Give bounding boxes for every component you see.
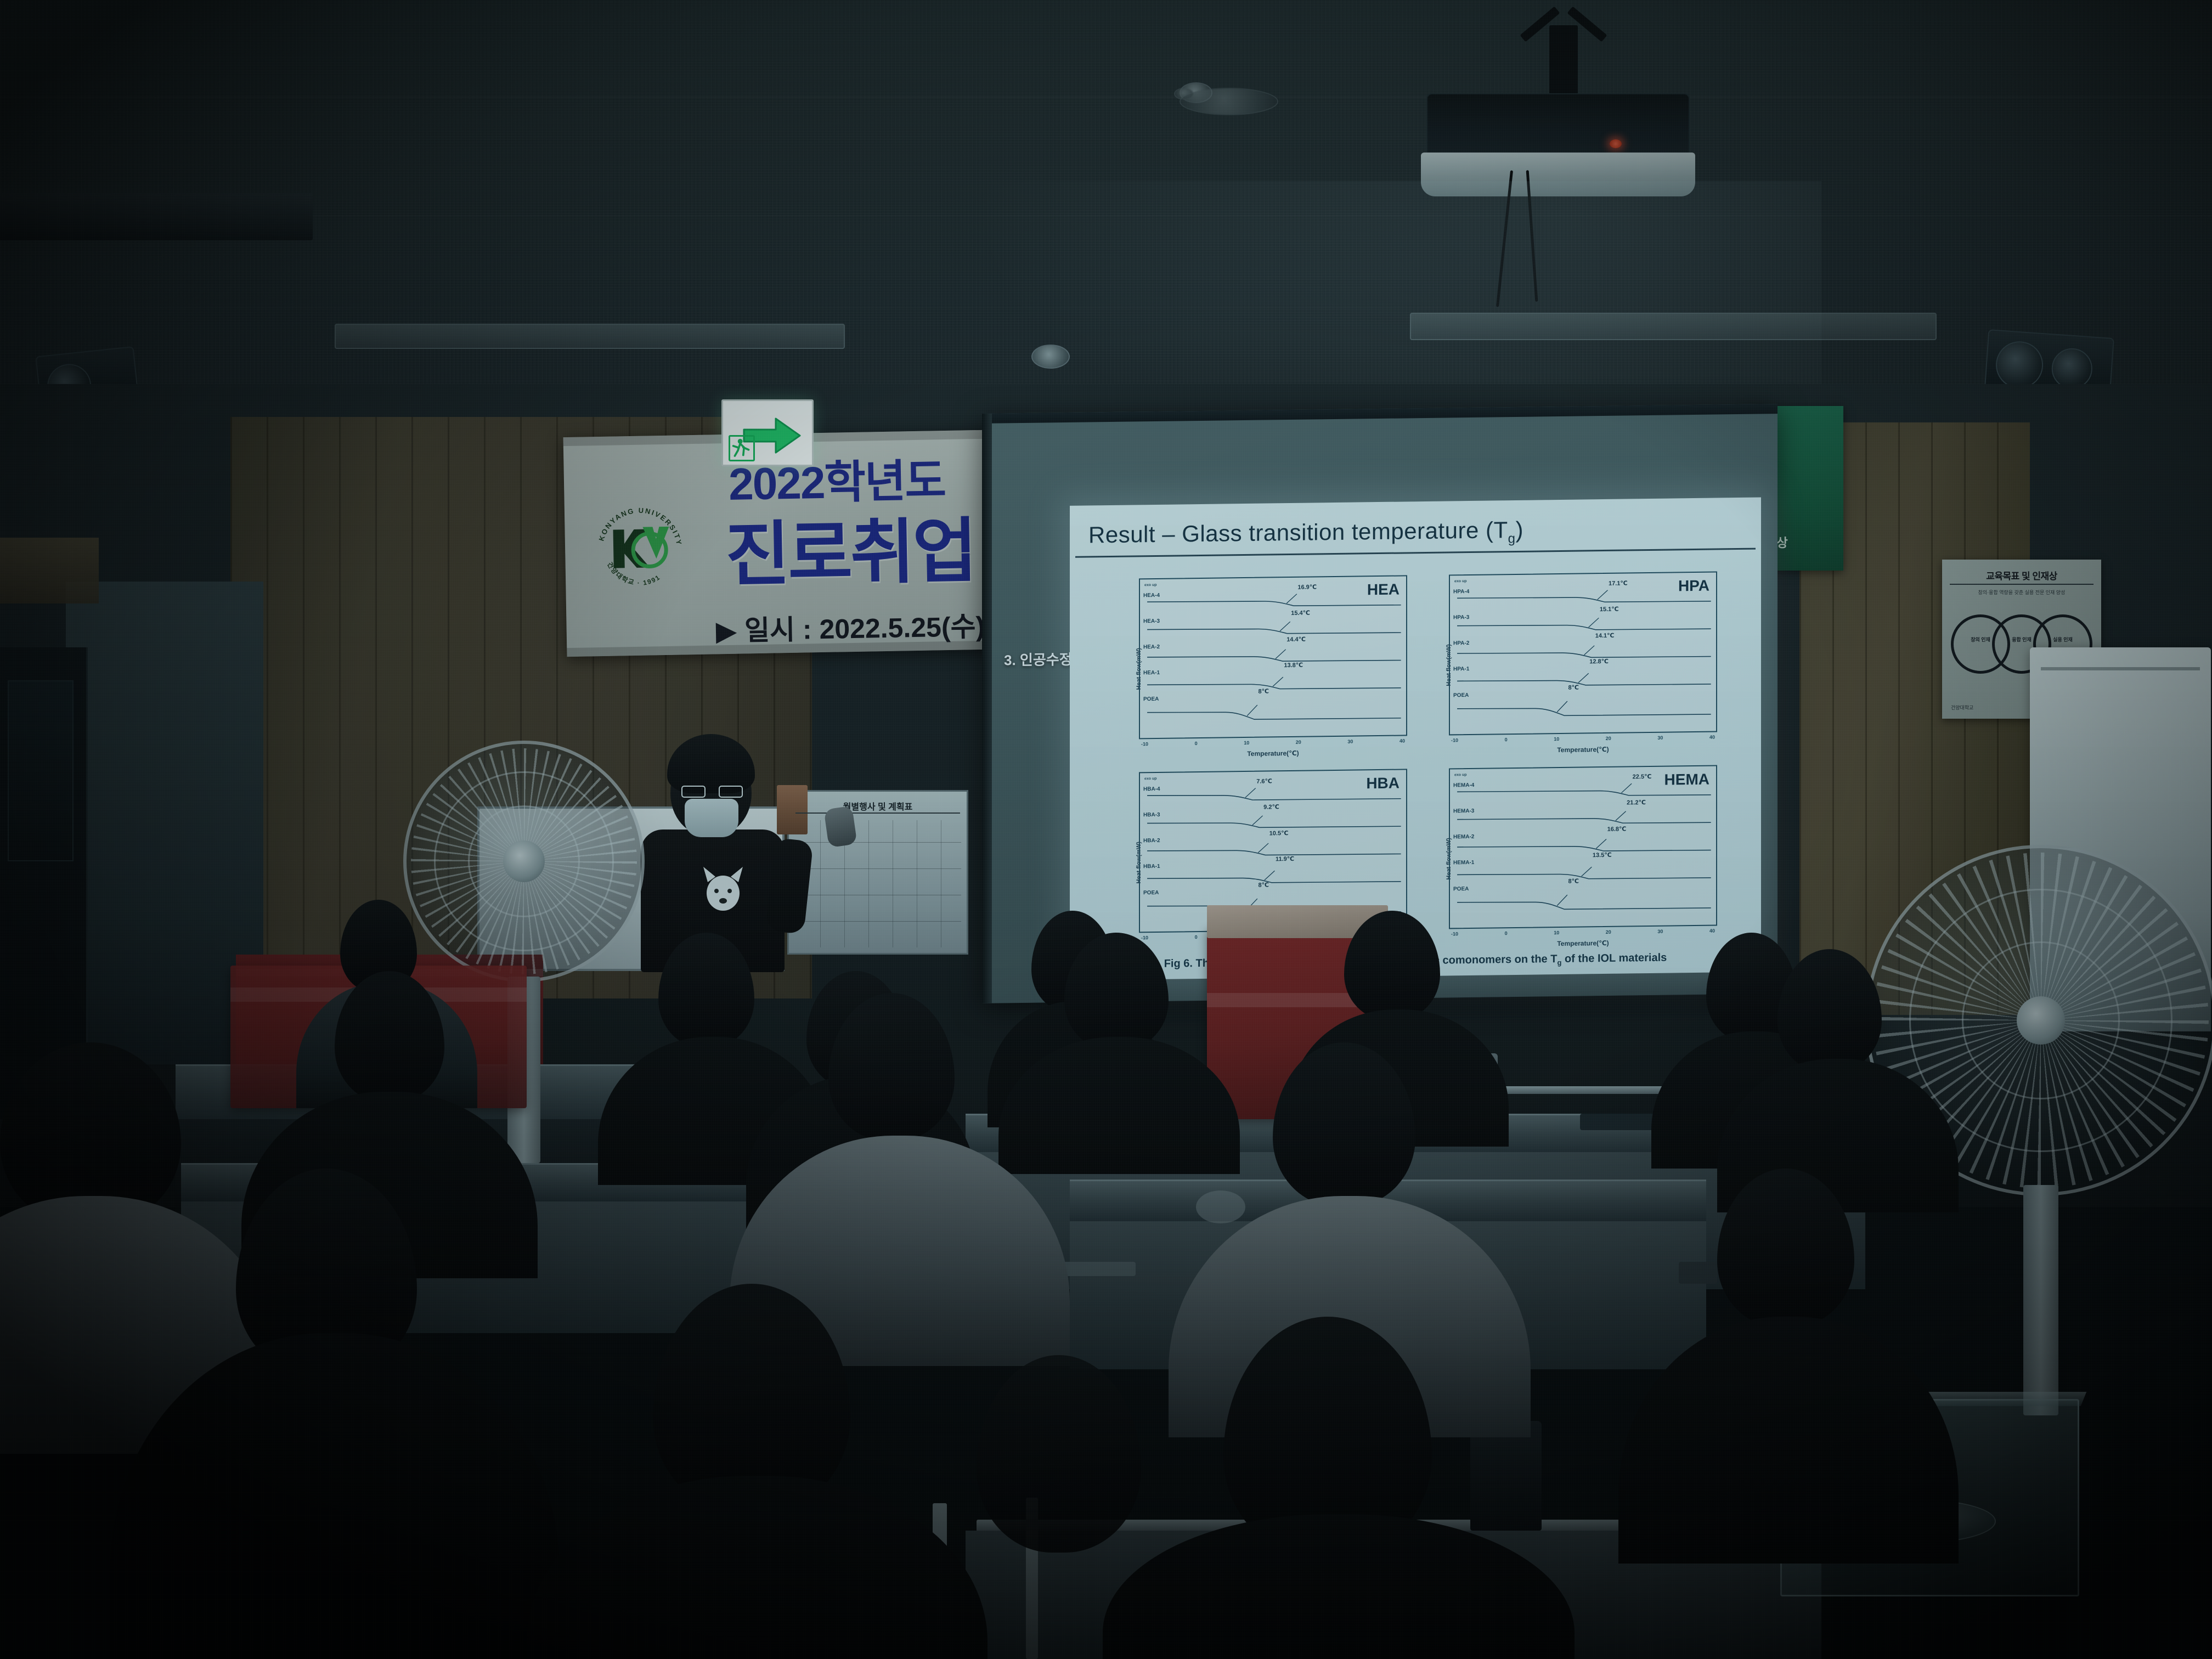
trace-hpa-3 bbox=[1457, 623, 1711, 632]
ceiling-seam bbox=[0, 307, 2212, 308]
tg-leader-line bbox=[1265, 871, 1275, 880]
konyang-university-logo: KONYANG UNIVERSITY 건양대학교 · 1991 bbox=[590, 496, 690, 597]
trace-label: HEA-1 bbox=[1143, 670, 1160, 676]
trace-hema-2 bbox=[1457, 844, 1711, 853]
poster-title: 교육목표 및 인재상 bbox=[1942, 568, 2101, 582]
tg-value-label: 21.2℃ bbox=[1627, 799, 1646, 806]
schedule-board-title: 월별행사 및 계획표 bbox=[789, 799, 967, 812]
tg-value-label: 9.2℃ bbox=[1263, 804, 1279, 811]
thermogram-traces bbox=[1450, 573, 1716, 745]
slide-title-close: ) bbox=[1515, 517, 1523, 543]
trace-label: HEA-4 bbox=[1143, 592, 1160, 598]
tg-leader-line bbox=[1280, 622, 1290, 631]
tg-leader-line bbox=[1258, 843, 1268, 853]
x-tick-label: 10 bbox=[1244, 740, 1249, 748]
x-tick-label: 40 bbox=[1709, 928, 1715, 936]
dsc-chart-grid: Heat flow(mW)exo upHEAHEA-416.9℃HEA-315.… bbox=[1116, 569, 1719, 955]
running-man-icon bbox=[729, 435, 755, 461]
trace-hea-2 bbox=[1147, 654, 1401, 663]
tg-value-label: 8℃ bbox=[1258, 688, 1268, 695]
schedule-grid bbox=[797, 820, 961, 947]
projector-power-led bbox=[1610, 139, 1622, 148]
tg-leader-line bbox=[1276, 650, 1286, 659]
tg-value-label: 14.1℃ bbox=[1595, 631, 1615, 639]
x-axis-label: Temperature(℃) bbox=[1449, 744, 1717, 755]
tg-leader-line bbox=[1286, 594, 1297, 603]
bench-rail bbox=[1498, 1086, 1684, 1094]
trace-hema-3 bbox=[1457, 816, 1711, 826]
x-tick-label: -10 bbox=[1451, 931, 1458, 939]
trace-poea bbox=[1457, 706, 1711, 718]
schedule-board-divider bbox=[795, 812, 960, 814]
trace-label: HEA-3 bbox=[1143, 618, 1160, 624]
banner-headline: 진로취업 bbox=[725, 494, 976, 600]
trace-label: HPA-2 bbox=[1453, 640, 1469, 646]
x-tick-label: 0 bbox=[1505, 737, 1508, 744]
tg-leader-line bbox=[1557, 701, 1567, 712]
trace-hea-3 bbox=[1147, 627, 1401, 636]
presenter-glasses bbox=[681, 786, 743, 798]
trace-label: HEMA-4 bbox=[1453, 782, 1474, 788]
trace-label: HBA-4 bbox=[1143, 786, 1160, 792]
trace-label: HPA-3 bbox=[1453, 614, 1469, 620]
trace-label: HEMA-1 bbox=[1453, 860, 1474, 866]
trace-label: HBA-1 bbox=[1143, 864, 1160, 870]
electric-fan-left[interactable] bbox=[403, 741, 645, 982]
x-tick-label: 10 bbox=[1554, 930, 1559, 938]
tg-value-label: 17.1℃ bbox=[1609, 580, 1628, 587]
x-axis-label: Temperature(℃) bbox=[1139, 748, 1407, 759]
x-tick-label: 20 bbox=[1296, 740, 1301, 747]
projected-slide: Result – Glass transition temperature (T… bbox=[1070, 498, 1761, 980]
tg-leader-line bbox=[1589, 618, 1599, 627]
trace-hpa-2 bbox=[1457, 650, 1711, 659]
door-window bbox=[8, 680, 74, 861]
projector-mount bbox=[1514, 5, 1613, 104]
trace-label: HPA-4 bbox=[1453, 589, 1469, 595]
audience-head bbox=[977, 1355, 1141, 1553]
trace-label: HEA-2 bbox=[1143, 644, 1160, 650]
ceiling-smoke-detector bbox=[1031, 345, 1070, 369]
cabinet-seam bbox=[2041, 667, 2200, 670]
tg-value-label: 15.4℃ bbox=[1291, 610, 1310, 617]
tg-value-label: 13.8℃ bbox=[1284, 662, 1303, 669]
trace-label: HEMA-3 bbox=[1453, 808, 1474, 814]
tg-value-label: 11.9℃ bbox=[1276, 855, 1294, 862]
tg-value-label: 12.8℃ bbox=[1589, 658, 1609, 665]
x-tick-label: 30 bbox=[1657, 735, 1663, 743]
slide-title-subscript: g bbox=[1508, 531, 1516, 546]
thermogram-traces bbox=[1450, 766, 1716, 939]
x-tick-label: 30 bbox=[1657, 929, 1663, 936]
tg-leader-line bbox=[1596, 839, 1606, 849]
plot-area: exo upHEAHEA-416.9℃HEA-315.4℃HEA-214.4℃H… bbox=[1139, 575, 1407, 739]
tg-value-label: 14.4℃ bbox=[1286, 635, 1306, 642]
screen-left-edge bbox=[982, 414, 992, 1003]
trace-hba-2 bbox=[1147, 848, 1401, 857]
x-tick-label: -10 bbox=[1451, 737, 1458, 745]
tg-leader-line bbox=[1252, 816, 1263, 825]
analytical-balance-base bbox=[0, 193, 313, 240]
lecture-hall-photo: j 인재상 교육목표 및 인재상 창의·융합 역량을 갖춘 실용 전문 인재 양… bbox=[0, 0, 2212, 1659]
tg-leader-line bbox=[1273, 677, 1283, 686]
trace-label: HBA-2 bbox=[1143, 838, 1160, 844]
ceiling-seam bbox=[0, 97, 2212, 98]
trace-hba-3 bbox=[1147, 820, 1401, 830]
tg-value-label: 10.5℃ bbox=[1269, 830, 1289, 837]
bench-item bbox=[1059, 1262, 1136, 1276]
tg-leader-line bbox=[1584, 646, 1595, 655]
trace-label: POEA bbox=[1453, 886, 1469, 892]
dsc-panel-hema: Heat flow(mW)exo upHEMAHEMA-422.5℃HEMA-3… bbox=[1426, 763, 1719, 951]
trace-label: HBA-3 bbox=[1143, 812, 1160, 818]
trace-hea-1 bbox=[1147, 682, 1401, 691]
trace-label: HPA-1 bbox=[1453, 666, 1469, 672]
trace-hea-4 bbox=[1147, 599, 1401, 608]
presenter-hand bbox=[823, 806, 857, 848]
projector-lens-housing bbox=[1421, 153, 1695, 196]
x-tick-label: -10 bbox=[1141, 741, 1148, 749]
wall-cabinet-left bbox=[0, 538, 99, 603]
tg-value-label: 7.6℃ bbox=[1256, 777, 1272, 785]
tg-leader-line bbox=[1557, 895, 1567, 906]
caption-after: of the IOL materials bbox=[1561, 952, 1667, 965]
trace-hema-4 bbox=[1457, 789, 1711, 798]
trace-label: POEA bbox=[1143, 890, 1159, 896]
ceiling-light-troffer bbox=[1410, 313, 1937, 340]
dsc-panel-hea: Heat flow(mW)exo upHEAHEA-416.9℃HEA-315.… bbox=[1116, 573, 1409, 761]
tg-value-label: 8℃ bbox=[1568, 684, 1578, 691]
pump-bottle bbox=[1470, 1421, 1542, 1531]
audience-shoulders bbox=[527, 1476, 988, 1659]
poster-subtitle: 창의·융합 역량을 갖춘 실용 전문 인재 양성 bbox=[1952, 589, 2091, 597]
tg-leader-line bbox=[1245, 788, 1256, 798]
phone-on-bench[interactable] bbox=[1679, 1262, 1717, 1284]
tg-leader-line bbox=[1621, 783, 1632, 793]
plot-area: exo upHPAHPA-417.1℃HPA-315.1℃HPA-214.1℃H… bbox=[1449, 571, 1717, 735]
x-tick-label: 40 bbox=[1400, 738, 1405, 746]
poster-footer-left: 건양대학교 bbox=[1951, 704, 1973, 711]
tg-leader-line bbox=[1247, 705, 1257, 716]
emergency-exit-sign bbox=[721, 399, 814, 466]
tg-value-label: 15.1℃ bbox=[1600, 606, 1619, 613]
ceiling-seam bbox=[0, 215, 2212, 216]
tg-leader-line bbox=[1616, 811, 1626, 821]
trace-label: POEA bbox=[1143, 696, 1159, 702]
trace-hpa-4 bbox=[1457, 595, 1711, 605]
x-tick-label: 0 bbox=[1195, 741, 1198, 748]
presenter-face-mask bbox=[685, 799, 738, 837]
ceiling-light-troffer bbox=[335, 324, 845, 349]
dsc-panel-hpa: Heat flow(mW)exo upHPAHPA-417.1℃HPA-315.… bbox=[1426, 569, 1719, 758]
x-tick-label: 0 bbox=[1195, 934, 1198, 942]
x-tick-label: 10 bbox=[1554, 736, 1559, 744]
x-tick-label: 30 bbox=[1347, 739, 1353, 747]
tg-value-label: 8℃ bbox=[1258, 882, 1268, 889]
trace-hba-1 bbox=[1147, 876, 1401, 885]
x-tick-label: 0 bbox=[1505, 930, 1508, 938]
trace-poea bbox=[1147, 709, 1401, 721]
banner-datetime: ▶ 일시 : 2022.5.25(수)1 bbox=[715, 604, 1001, 648]
trace-label: HEMA-2 bbox=[1453, 834, 1474, 840]
x-tick-label: 20 bbox=[1606, 929, 1611, 937]
tg-leader-line bbox=[1578, 673, 1589, 682]
monthly-schedule-board: 월별행사 및 계획표 bbox=[787, 790, 968, 955]
trace-hba-4 bbox=[1147, 793, 1401, 802]
tg-value-label: 16.8℃ bbox=[1607, 825, 1627, 832]
tshirt-dog-graphic bbox=[698, 866, 748, 913]
tg-value-label: 13.5℃ bbox=[1593, 851, 1612, 859]
slide-title: Result – Glass transition temperature (T… bbox=[1088, 517, 1523, 552]
x-axis-label: Temperature(℃) bbox=[1449, 938, 1717, 949]
tg-leader-line bbox=[1582, 867, 1592, 876]
trace-label: POEA bbox=[1453, 692, 1469, 698]
ceiling-speaker-grille bbox=[1180, 88, 1278, 115]
trace-hema-1 bbox=[1457, 872, 1711, 881]
svg-text:KONYANG UNIVERSITY: KONYANG UNIVERSITY bbox=[596, 505, 684, 548]
bench-item bbox=[1196, 1190, 1245, 1223]
tg-value-label: 22.5℃ bbox=[1633, 773, 1652, 780]
poster-divider bbox=[1950, 584, 2093, 585]
ceiling-projector bbox=[1426, 93, 1690, 159]
trace-poea bbox=[1457, 899, 1711, 911]
x-tick-label: 40 bbox=[1709, 735, 1715, 742]
plot-area: exo upHEMAHEMA-422.5℃HEMA-321.2℃HEMA-216… bbox=[1449, 765, 1717, 929]
tg-value-label: 8℃ bbox=[1568, 878, 1578, 885]
thermogram-traces bbox=[1140, 576, 1406, 748]
slide-title-main: Result – Glass transition temperature (T bbox=[1088, 517, 1508, 548]
x-tick-label: 20 bbox=[1606, 736, 1611, 743]
tg-value-label: 16.9℃ bbox=[1297, 583, 1317, 590]
trace-hpa-1 bbox=[1457, 678, 1711, 687]
tg-leader-line bbox=[1598, 590, 1608, 600]
